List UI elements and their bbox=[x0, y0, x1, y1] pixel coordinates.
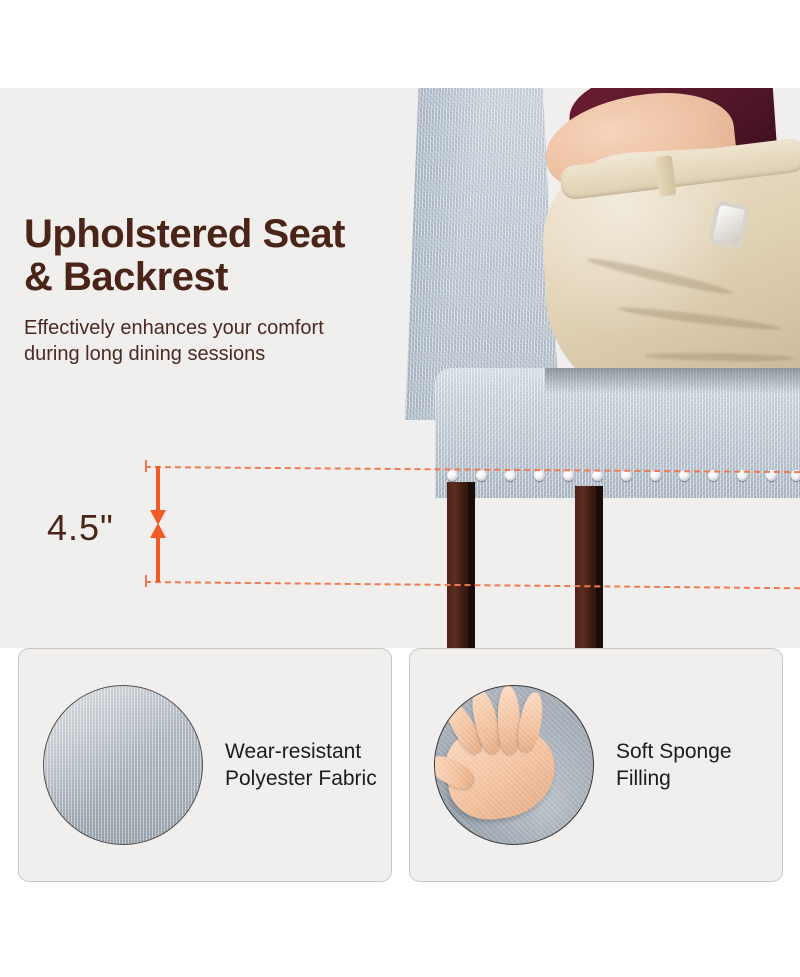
seat-shadow bbox=[545, 368, 800, 394]
arrow-head-up-icon bbox=[150, 523, 166, 538]
feature-card-sponge: Soft Sponge Filling bbox=[409, 648, 783, 882]
chair-photo-clip bbox=[395, 88, 800, 648]
chair-leg-front-shadow bbox=[468, 482, 475, 648]
arrow-shaft-lower bbox=[156, 537, 160, 582]
page-subtitle: Effectively enhances your comfort during… bbox=[24, 316, 324, 367]
arrow-shaft-upper bbox=[156, 466, 160, 511]
feature-card-fabric-label: Wear-resistant Polyester Fabric bbox=[225, 738, 377, 793]
feature-card-fabric: Wear-resistant Polyester Fabric bbox=[18, 648, 392, 882]
infographic-root: Upholstered Seat & Backrest Effectively … bbox=[0, 0, 800, 977]
page-title: Upholstered Seat & Backrest bbox=[24, 213, 345, 299]
hand-finger bbox=[440, 697, 487, 758]
dimension-arrow bbox=[147, 466, 169, 582]
hand-thumb bbox=[434, 750, 478, 794]
hand-finger bbox=[467, 686, 504, 755]
fabric-swatch-icon bbox=[43, 685, 203, 845]
pants-fold bbox=[644, 352, 794, 363]
chair-leg-rear-shadow bbox=[596, 486, 603, 648]
hand-finger bbox=[515, 691, 546, 754]
pants-fold bbox=[617, 304, 782, 333]
pants-fold bbox=[586, 254, 734, 297]
hand-palm bbox=[441, 719, 561, 825]
hand-finger bbox=[497, 686, 521, 755]
feature-card-sponge-label: Soft Sponge Filling bbox=[616, 738, 732, 793]
dimension-label: 4.5" bbox=[47, 507, 114, 549]
product-photo bbox=[0, 88, 800, 648]
content-panel: Upholstered Seat & Backrest Effectively … bbox=[0, 88, 800, 648]
sponge-swatch-icon bbox=[434, 685, 594, 845]
